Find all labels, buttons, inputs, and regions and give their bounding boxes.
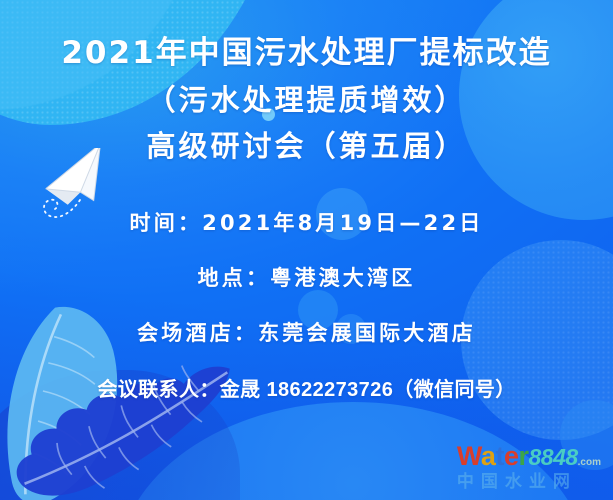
poster-content: 2021年中国污水处理厂提标改造 （污水处理提质增效） 高级研讨会（第五届） 时… [0, 0, 613, 500]
page-title-line-3: 高级研讨会（第五届） [146, 132, 466, 161]
page-title-line-2: （污水处理提质增效） [146, 86, 466, 115]
watermark-number: 8848 [528, 444, 577, 470]
watermark-letter-a: a [481, 441, 496, 471]
event-time: 时间：2021年8月19日—22日 [130, 207, 484, 237]
page-title-line-1: 2021年中国污水处理厂提标改造 [61, 38, 551, 69]
watermark-logo: Water8848.com 中国水业网 [457, 443, 601, 492]
watermark-letter-t: t [495, 441, 504, 471]
watermark-brand: Water8848.com [457, 443, 601, 470]
event-venue-hotel: 会场酒店：东莞会展国际大酒店 [137, 317, 476, 347]
watermark-tld: .com [578, 457, 601, 468]
watermark-subtitle: 中国水业网 [457, 472, 601, 492]
watermark-letter-r: r [518, 441, 528, 471]
event-location: 地点：粤港澳大湾区 [198, 262, 416, 292]
event-contact: 会议联系人：金晟 18622273726（微信同号） [97, 373, 515, 402]
conference-poster: 2021年中国污水处理厂提标改造 （污水处理提质增效） 高级研讨会（第五届） 时… [0, 0, 613, 500]
watermark-letter-e: e [504, 441, 519, 471]
watermark-letter-w: W [457, 441, 481, 471]
